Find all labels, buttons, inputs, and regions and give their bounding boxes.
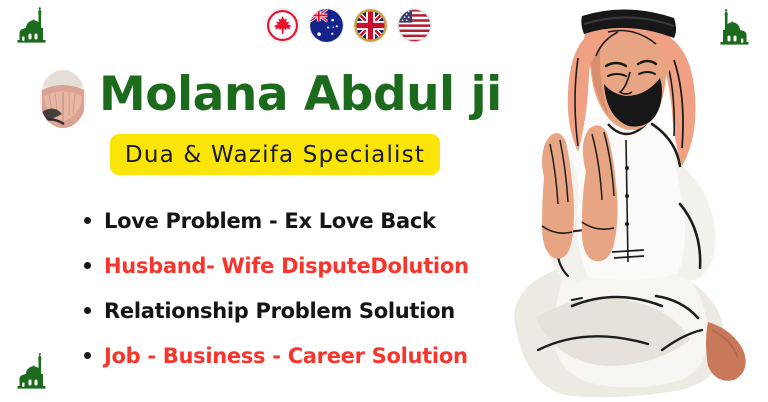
mosque-crescent-logo-top-left — [2, 2, 60, 52]
service-label: Job - Business - Career Solution — [104, 344, 468, 368]
uk-flag-badge — [354, 9, 387, 42]
service-label: Love Problem - Ex Love Back — [104, 209, 436, 233]
services-list: Love Problem - Ex Love Back Husband- Wif… — [84, 198, 504, 378]
list-item: Relationship Problem Solution — [84, 288, 504, 333]
bullet-icon — [84, 307, 91, 314]
usa-flag-badge — [398, 9, 431, 42]
praying-hands-portrait — [40, 70, 86, 128]
list-item: Husband- Wife DisputeDolution — [84, 243, 504, 288]
service-label: Relationship Problem Solution — [104, 299, 455, 323]
canada-flag-badge — [266, 9, 299, 42]
list-item: Love Problem - Ex Love Back — [84, 198, 504, 243]
praying-man-illustration — [476, 0, 768, 402]
promo-banner: Molana Abdul ji Dua & Wazifa Specialist … — [0, 0, 768, 402]
australia-flag-badge — [310, 9, 343, 42]
bullet-icon — [84, 352, 91, 359]
list-item: Job - Business - Career Solution — [84, 333, 504, 378]
service-label: Husband- Wife DisputeDolution — [104, 254, 469, 278]
subtitle-text: Dua & Wazifa Specialist — [125, 142, 425, 168]
bullet-icon — [84, 262, 91, 269]
country-flag-row — [266, 9, 431, 42]
mosque-crescent-logo-bottom-left — [2, 348, 60, 398]
page-title: Molana Abdul ji — [99, 68, 502, 122]
bullet-icon — [84, 217, 91, 224]
subtitle-badge: Dua & Wazifa Specialist — [110, 134, 440, 175]
